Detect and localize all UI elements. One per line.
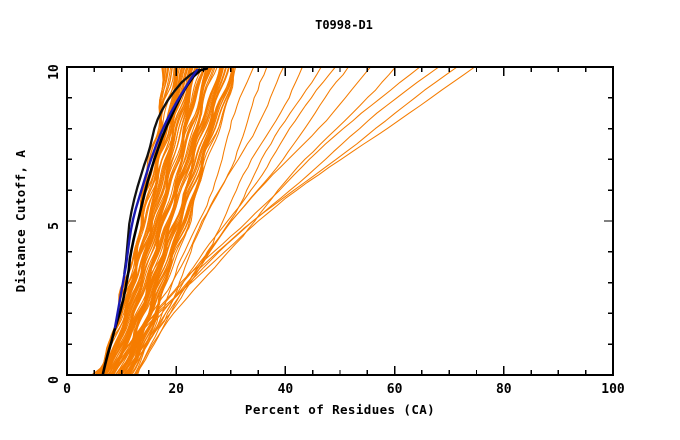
y-axis-label: Distance Cutoff, A: [13, 150, 28, 293]
x-tick-label: 0: [63, 382, 71, 397]
x-tick-label: 60: [387, 382, 403, 397]
x-tick-label: 100: [601, 382, 625, 397]
x-tick-label: 80: [496, 382, 512, 397]
x-axis-label: Percent of Residues (CA): [245, 402, 435, 417]
y-tick-label: 0: [47, 376, 62, 384]
plot-container: T0998-D1 0204060801000510 Percent of Res…: [0, 0, 680, 440]
y-tick-label: 10: [47, 64, 62, 80]
distance-cutoff-chart: T0998-D1 0204060801000510 Percent of Res…: [0, 0, 680, 440]
page-title: T0998-D1: [315, 18, 373, 32]
y-tick-label: 5: [47, 222, 62, 230]
x-tick-label: 40: [278, 382, 294, 397]
x-tick-label: 20: [168, 382, 184, 397]
